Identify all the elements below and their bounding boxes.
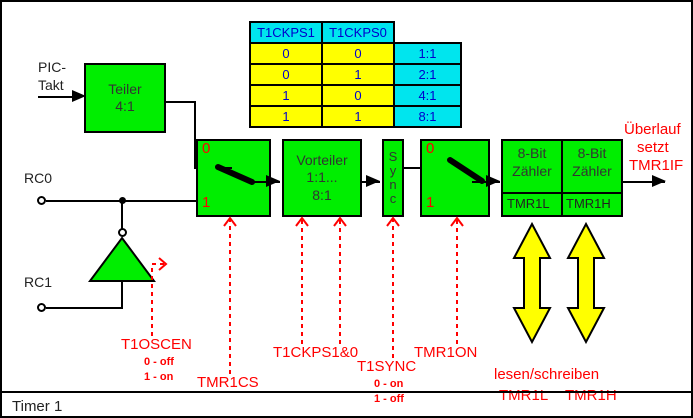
label-tmr1on: TMR1ON <box>414 344 477 361</box>
label-t1oscen-note2: 1 - on <box>144 371 173 383</box>
label-t1sync-note2: 1 - off <box>374 393 404 405</box>
label-tmr1cs: TMR1CS <box>197 374 259 391</box>
diagram-caption: Timer 1 <box>12 398 62 415</box>
label-readwrite-tmr1l: TMR1L <box>499 387 548 404</box>
label-t1oscen-note1: 0 - off <box>144 356 174 368</box>
label-t1ckps: T1CKPS1&0 <box>273 344 358 361</box>
label-t1oscen: T1OSCEN <box>121 336 192 353</box>
control-line-t1oscen <box>152 264 165 336</box>
label-t1sync-note1: 0 - on <box>374 378 403 390</box>
label-readwrite: lesen/schreiben <box>494 366 599 383</box>
label-readwrite-tmr1h: TMR1H <box>565 387 617 404</box>
caption-separator <box>2 391 693 393</box>
label-t1sync: T1SYNC <box>357 358 416 375</box>
timer1-block-diagram: T1CKPS1 T1CKPS0 0 0 1:1 0 1 2:1 1 0 4:1 … <box>0 0 693 418</box>
